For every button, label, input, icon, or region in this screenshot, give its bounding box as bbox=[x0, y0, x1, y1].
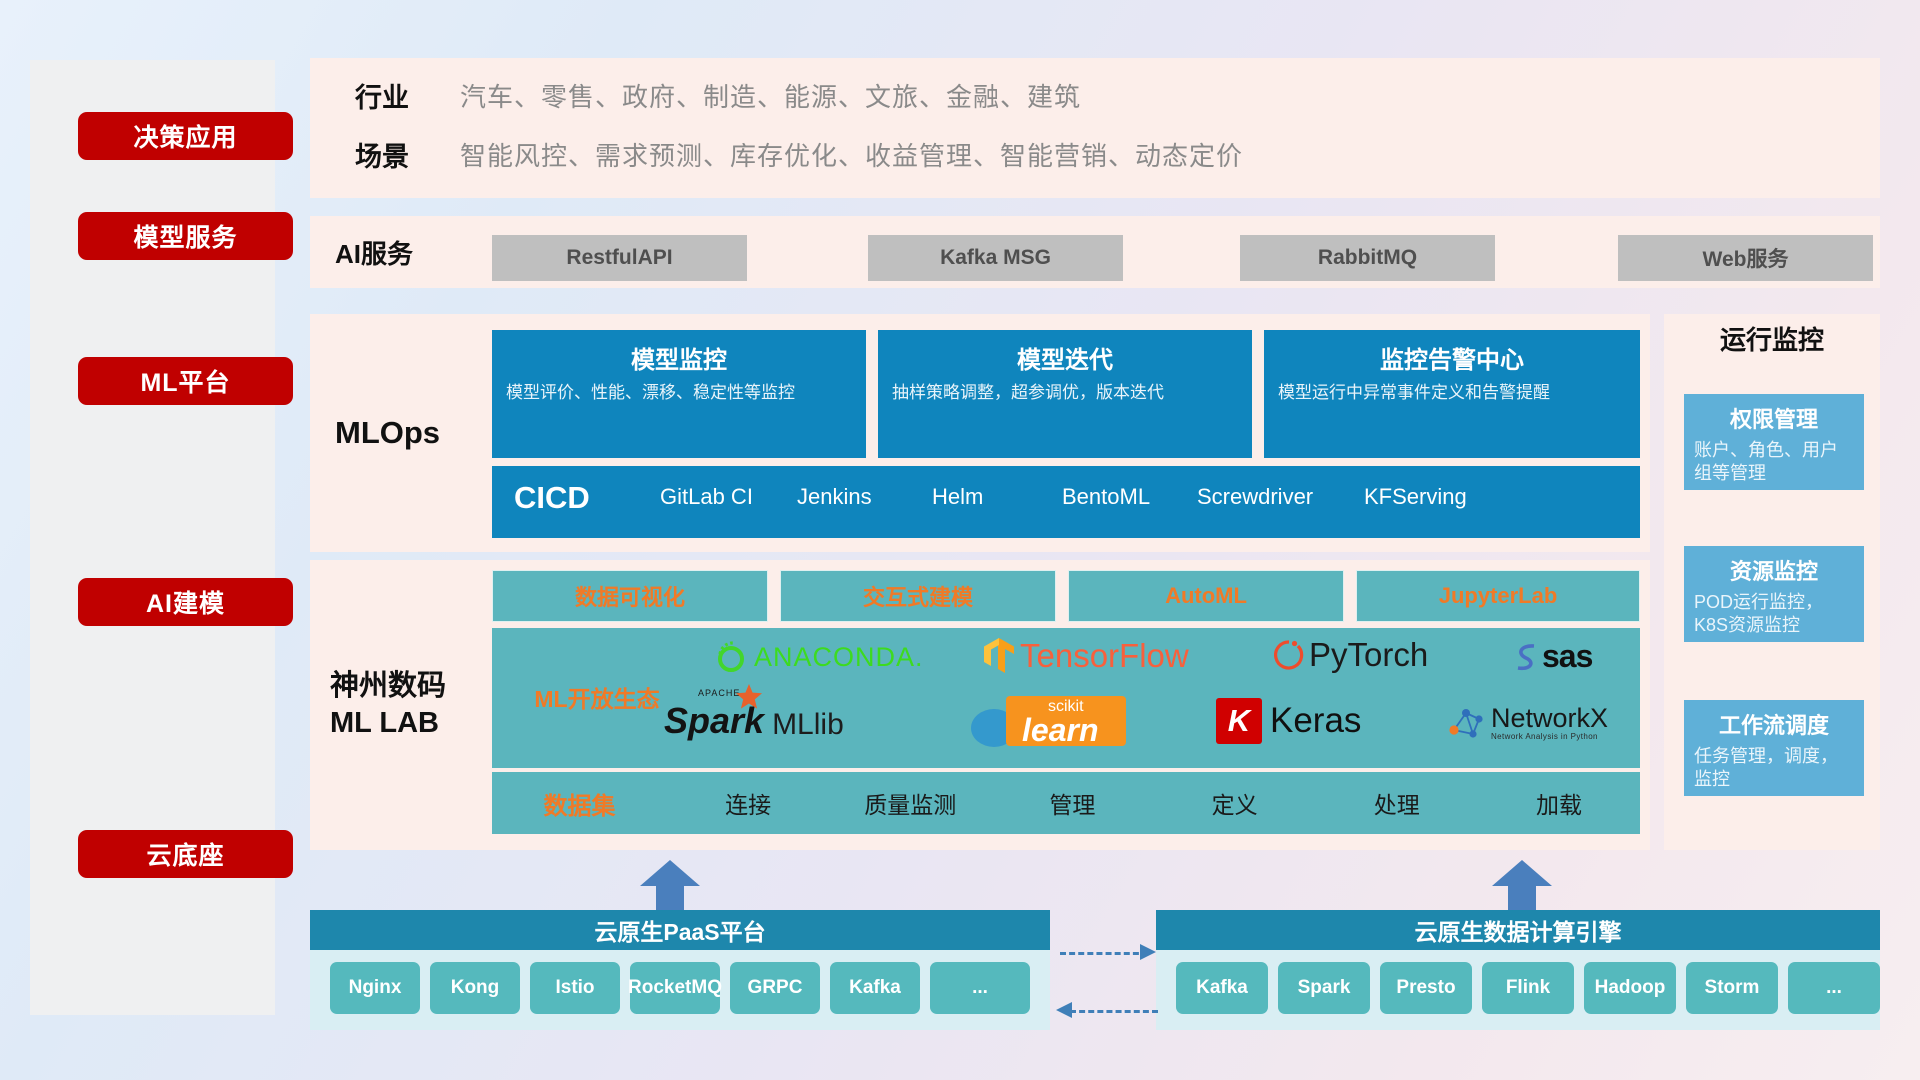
engine-chip-kafka[interactable]: Kafka bbox=[1176, 962, 1268, 1014]
mlops-card-model-monitor[interactable]: 模型监控 模型评价、性能、漂移、稳定性等监控 bbox=[492, 330, 866, 458]
networkx-mark-icon bbox=[1446, 704, 1486, 742]
modeling-title-line2: ML LAB bbox=[330, 705, 446, 742]
paas-chip-label: Istio bbox=[555, 977, 594, 998]
spark-apache-label: APACHE bbox=[698, 688, 740, 698]
cicd-item-bentoml[interactable]: BentoML bbox=[1062, 484, 1174, 509]
cicd-item-screwdriver[interactable]: Screwdriver bbox=[1197, 484, 1309, 509]
modeling-layer-title: 神州数码 ML LAB bbox=[330, 560, 490, 850]
tool-chip-data-visualization[interactable]: 数据可视化 bbox=[492, 570, 768, 622]
cicd-item-jenkins[interactable]: Jenkins bbox=[797, 484, 909, 509]
keras-mark-letter: K bbox=[1228, 703, 1250, 739]
tool-chip-jupyterlab[interactable]: JupyterLab bbox=[1356, 570, 1640, 622]
keras-mark-icon: K bbox=[1216, 698, 1262, 744]
industry-label: 行业 bbox=[355, 76, 460, 115]
tensorflow-mark-icon bbox=[982, 636, 1016, 676]
scenario-label: 场景 bbox=[355, 135, 460, 174]
modeling-title-line1: 神州数码 bbox=[330, 668, 446, 705]
rail-item-cloud-base[interactable]: 云底座 bbox=[78, 830, 293, 878]
dataset-item-load[interactable]: 加载 bbox=[1478, 786, 1640, 820]
monitor-card-desc: 账户、角色、用户组等管理 bbox=[1694, 439, 1854, 486]
rail-item-decision-app[interactable]: 决策应用 bbox=[78, 112, 293, 160]
monitor-card-title: 权限管理 bbox=[1694, 402, 1854, 434]
monitor-card-title: 工作流调度 bbox=[1694, 708, 1854, 740]
dataset-item-connect[interactable]: 连接 bbox=[667, 786, 829, 820]
rail-label: 云底座 bbox=[146, 836, 224, 872]
mlops-card-desc: 模型评价、性能、漂移、稳定性等监控 bbox=[506, 382, 852, 405]
data-engine-header: 云原生数据计算引擎 bbox=[1156, 910, 1880, 950]
scikit-learn-label: learn bbox=[1022, 712, 1098, 749]
paas-chip-label: Kong bbox=[451, 977, 500, 998]
paas-header: 云原生PaaS平台 bbox=[310, 910, 1050, 950]
anaconda-mark-icon bbox=[714, 640, 748, 674]
dataset-row: 数据集 连接 质量监测 管理 定义 处理 加载 bbox=[492, 772, 1640, 834]
cicd-title: CICD bbox=[514, 480, 590, 516]
rail-label: 决策应用 bbox=[133, 118, 237, 154]
engine-chip-label: Spark bbox=[1298, 977, 1351, 998]
architecture-diagram: 决策应用 模型服务 ML平台 AI建模 云底座 行业 汽车、零售、政府、制造、能… bbox=[0, 0, 1920, 1080]
paas-chip-label: RocketMQ bbox=[628, 977, 722, 998]
rail-label: AI建模 bbox=[146, 584, 225, 620]
tool-chip-label: AutoML bbox=[1165, 583, 1247, 609]
engine-chip-flink[interactable]: Flink bbox=[1482, 962, 1574, 1014]
connector-left-line bbox=[1070, 1010, 1158, 1013]
service-box-label: RestfulAPI bbox=[566, 246, 672, 270]
engine-chip-more[interactable]: ... bbox=[1788, 962, 1880, 1014]
connector-right-line bbox=[1060, 952, 1148, 955]
monitor-card-resource[interactable]: 资源监控 POD运行监控，K8S资源监控 bbox=[1684, 546, 1864, 642]
industry-value: 汽车、零售、政府、制造、能源、文旅、金融、建筑 bbox=[460, 77, 1081, 114]
paas-chip-nginx[interactable]: Nginx bbox=[330, 962, 420, 1014]
engine-chip-label: Flink bbox=[1506, 977, 1550, 998]
networkx-tagline: Network Analysis in Python bbox=[1491, 732, 1608, 741]
tool-chip-automl[interactable]: AutoML bbox=[1068, 570, 1344, 622]
paas-chip-label: Kafka bbox=[849, 977, 901, 998]
engine-chip-label: Kafka bbox=[1196, 977, 1248, 998]
layer-rail: 决策应用 模型服务 ML平台 AI建模 云底座 bbox=[30, 60, 275, 1015]
service-box-web-service[interactable]: Web服务 bbox=[1618, 235, 1873, 281]
scenario-value: 智能风控、需求预测、库存优化、收益管理、智能营销、动态定价 bbox=[460, 136, 1243, 173]
rail-item-model-service[interactable]: 模型服务 bbox=[78, 212, 293, 260]
tool-chip-label: 数据可视化 bbox=[575, 580, 685, 612]
connector-right-arrowhead-icon bbox=[1140, 942, 1160, 962]
dataset-title: 数据集 bbox=[492, 786, 667, 821]
connector-left-arrowhead-icon bbox=[1052, 1000, 1072, 1020]
paas-chip-label: Nginx bbox=[349, 977, 402, 998]
rail-item-ai-modeling[interactable]: AI建模 bbox=[78, 578, 293, 626]
up-arrow-paas-icon bbox=[638, 860, 702, 912]
pytorch-logo: PyTorch bbox=[1274, 636, 1428, 674]
mlops-card-model-iteration[interactable]: 模型迭代 抽样策略调整，超参调优，版本迭代 bbox=[878, 330, 1252, 458]
rail-label: 模型服务 bbox=[133, 218, 237, 254]
cicd-item-gitlab-ci[interactable]: GitLab CI bbox=[660, 484, 772, 509]
rail-item-ml-platform[interactable]: ML平台 bbox=[78, 357, 293, 405]
mlops-card-title: 监控告警中心 bbox=[1278, 340, 1626, 375]
pytorch-wordmark: PyTorch bbox=[1309, 636, 1428, 674]
engine-chip-label: Storm bbox=[1705, 977, 1760, 998]
engine-chip-spark[interactable]: Spark bbox=[1278, 962, 1370, 1014]
engine-chip-presto[interactable]: Presto bbox=[1380, 962, 1472, 1014]
keras-logo: K Keras bbox=[1216, 698, 1361, 744]
cicd-item-kfserving[interactable]: KFServing bbox=[1364, 484, 1476, 509]
monitor-card-workflow[interactable]: 工作流调度 任务管理，调度，监控 bbox=[1684, 700, 1864, 796]
dataset-item-define[interactable]: 定义 bbox=[1154, 786, 1316, 820]
sas-logo: sas bbox=[1512, 638, 1592, 675]
service-box-label: Web服务 bbox=[1703, 243, 1789, 273]
service-box-label: Kafka MSG bbox=[940, 246, 1051, 270]
cicd-bar: CICD GitLab CI Jenkins Helm BentoML Scre… bbox=[492, 466, 1640, 538]
service-box-label: RabbitMQ bbox=[1318, 246, 1417, 270]
pytorch-mark-icon bbox=[1274, 637, 1304, 673]
paas-chip-label: ... bbox=[972, 977, 988, 998]
ml-ecosystem-box: ML开放生态 ANACONDA. TensorFlow PyTorch bbox=[492, 628, 1640, 768]
mlops-card-desc: 抽样策略调整，超参调优，版本迭代 bbox=[892, 382, 1238, 405]
cicd-item-helm[interactable]: Helm bbox=[932, 484, 1044, 509]
engine-chip-storm[interactable]: Storm bbox=[1686, 962, 1778, 1014]
monitor-column-title: 运行监控 bbox=[1664, 320, 1880, 357]
paas-chip-grpc[interactable]: GRPC bbox=[730, 962, 820, 1014]
spark-star-icon bbox=[736, 684, 762, 710]
monitor-card-desc: 任务管理，调度，监控 bbox=[1694, 745, 1854, 792]
dataset-item-quality[interactable]: 质量监测 bbox=[829, 786, 991, 820]
paas-chip-label: GRPC bbox=[748, 977, 803, 998]
paas-chip-kafka[interactable]: Kafka bbox=[830, 962, 920, 1014]
service-box-rabbitmq[interactable]: RabbitMQ bbox=[1240, 235, 1495, 281]
tensorflow-wordmark: TensorFlow bbox=[1020, 637, 1189, 675]
up-arrow-data-engine-icon bbox=[1490, 860, 1554, 912]
tool-chip-interactive-modeling[interactable]: 交互式建模 bbox=[780, 570, 1056, 622]
networkx-wordmark: NetworkX bbox=[1491, 705, 1608, 732]
paas-chip-more[interactable]: ... bbox=[930, 962, 1030, 1014]
paas-chip-rocketmq[interactable]: RocketMQ bbox=[630, 962, 720, 1014]
engine-chip-hadoop[interactable]: Hadoop bbox=[1584, 962, 1676, 1014]
monitor-card-permission[interactable]: 权限管理 账户、角色、用户组等管理 bbox=[1684, 394, 1864, 490]
anaconda-logo: ANACONDA. bbox=[714, 640, 924, 674]
mlops-card-alert-center[interactable]: 监控告警中心 模型运行中异常事件定义和告警提醒 bbox=[1264, 330, 1640, 458]
monitor-card-desc: POD运行监控，K8S资源监控 bbox=[1694, 591, 1854, 638]
rail-label: ML平台 bbox=[140, 363, 230, 399]
sas-wordmark: sas bbox=[1542, 638, 1592, 675]
paas-chip-kong[interactable]: Kong bbox=[430, 962, 520, 1014]
keras-wordmark: Keras bbox=[1270, 701, 1361, 741]
monitor-card-title: 资源监控 bbox=[1694, 554, 1854, 586]
mlops-card-desc: 模型运行中异常事件定义和告警提醒 bbox=[1278, 382, 1626, 405]
engine-chip-label: ... bbox=[1826, 977, 1842, 998]
tool-chip-label: 交互式建模 bbox=[863, 580, 973, 612]
mlops-card-title: 模型迭代 bbox=[892, 340, 1238, 375]
tensorflow-logo: TensorFlow bbox=[982, 636, 1189, 676]
dataset-item-process[interactable]: 处理 bbox=[1316, 786, 1478, 820]
mlops-card-title: 模型监控 bbox=[506, 340, 852, 375]
mllib-wordmark: MLlib bbox=[772, 708, 844, 742]
scenario-row: 场景 智能风控、需求预测、库存优化、收益管理、智能营销、动态定价 bbox=[355, 135, 1243, 174]
paas-chip-istio[interactable]: Istio bbox=[530, 962, 620, 1014]
service-layer-title: AI服务 bbox=[335, 216, 413, 288]
mlops-layer-title: MLOps bbox=[335, 314, 440, 552]
spark-mllib-logo: APACHE Spark MLlib bbox=[664, 700, 844, 742]
engine-chip-label: Hadoop bbox=[1595, 977, 1666, 998]
sas-mark-icon bbox=[1512, 641, 1540, 673]
engine-chip-label: Presto bbox=[1396, 977, 1455, 998]
networkx-logo: NetworkX Network Analysis in Python bbox=[1446, 704, 1608, 742]
service-box-restfulapi[interactable]: RestfulAPI bbox=[492, 235, 747, 281]
industry-row: 行业 汽车、零售、政府、制造、能源、文旅、金融、建筑 bbox=[355, 76, 1081, 115]
anaconda-wordmark: ANACONDA. bbox=[754, 642, 924, 673]
ml-ecosystem-title: ML开放生态 bbox=[512, 680, 682, 714]
dataset-item-manage[interactable]: 管理 bbox=[991, 786, 1153, 820]
service-box-kafka-msg[interactable]: Kafka MSG bbox=[868, 235, 1123, 281]
tool-chip-label: JupyterLab bbox=[1439, 583, 1558, 609]
